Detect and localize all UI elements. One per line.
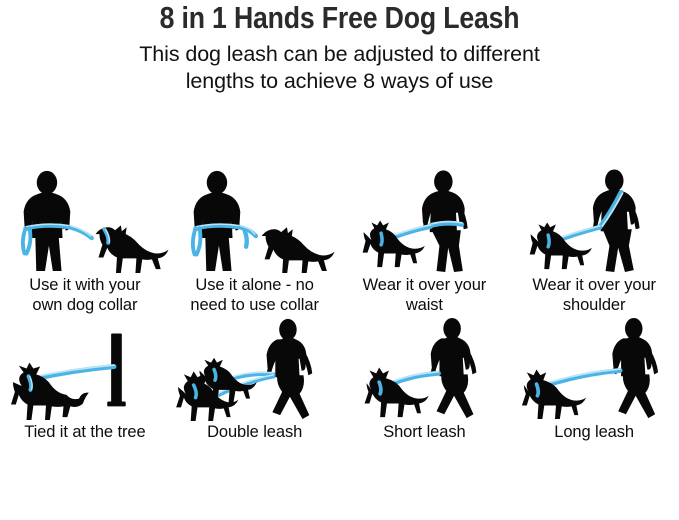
leash-worn-over-waist-illustration <box>340 168 510 273</box>
caption-line-2: waist <box>344 295 504 315</box>
usage-panel-6-caption: Double leash <box>175 422 335 442</box>
short-leash-walking-illustration <box>340 316 510 421</box>
usage-panel-7: Short leash <box>340 316 510 461</box>
usage-panel-4: Wear it over your shoulder <box>509 168 679 316</box>
subtitle-line-1: This dog leash can be adjusted to differ… <box>0 41 679 68</box>
usage-panel-7-caption: Short leash <box>344 422 504 442</box>
usage-panel-3-caption: Wear it over your waist <box>344 275 504 315</box>
caption-line-1: Long leash <box>514 422 674 442</box>
caption-line-1: Short leash <box>344 422 504 442</box>
caption-line-1: Wear it over your <box>514 275 674 295</box>
caption-line-2: need to use collar <box>175 295 335 315</box>
usage-panel-1-caption: Use it with your own dog collar <box>5 275 165 315</box>
caption-line-1: Use it with your <box>5 275 165 295</box>
person-with-dog-no-collar-illustration <box>170 168 340 273</box>
caption-line-1: Wear it over your <box>344 275 504 295</box>
subtitle-line-2: lengths to achieve 8 ways of use <box>0 68 679 95</box>
usage-panel-8-caption: Long leash <box>514 422 674 442</box>
caption-line-1: Use it alone - no <box>175 275 335 295</box>
usage-panel-4-caption: Wear it over your shoulder <box>514 275 674 315</box>
leash-worn-over-shoulder-illustration <box>509 168 679 273</box>
usage-panel-6: Double leash <box>170 316 340 461</box>
tree-post <box>107 334 125 407</box>
caption-line-2: shoulder <box>514 295 674 315</box>
page-title: 8 in 1 Hands Free Dog Leash <box>48 2 632 34</box>
usage-panel-8: Long leash <box>509 316 679 461</box>
usage-panel-5: Tied it at the tree <box>0 316 170 461</box>
product-infographic: 8 in 1 Hands Free Dog Leash This dog lea… <box>0 0 679 520</box>
usage-grid: Use it with your own dog collar <box>0 168 679 461</box>
page-subtitle: This dog leash can be adjusted to differ… <box>0 41 679 95</box>
caption-line-1: Double leash <box>175 422 335 442</box>
dog-tied-at-tree-illustration <box>0 316 170 421</box>
long-leash-walking-illustration <box>509 316 679 421</box>
caption-line-1: Tied it at the tree <box>5 422 165 442</box>
usage-panel-2: Use it alone - no need to use collar <box>170 168 340 316</box>
caption-line-2: own dog collar <box>5 295 165 315</box>
usage-panel-5-caption: Tied it at the tree <box>5 422 165 442</box>
usage-panel-1: Use it with your own dog collar <box>0 168 170 316</box>
header: 8 in 1 Hands Free Dog Leash This dog lea… <box>0 0 679 95</box>
person-with-dog-collar-illustration <box>0 168 170 273</box>
usage-panel-3: Wear it over your waist <box>340 168 510 316</box>
double-leash-two-dogs-illustration <box>170 316 340 421</box>
usage-panel-2-caption: Use it alone - no need to use collar <box>175 275 335 315</box>
